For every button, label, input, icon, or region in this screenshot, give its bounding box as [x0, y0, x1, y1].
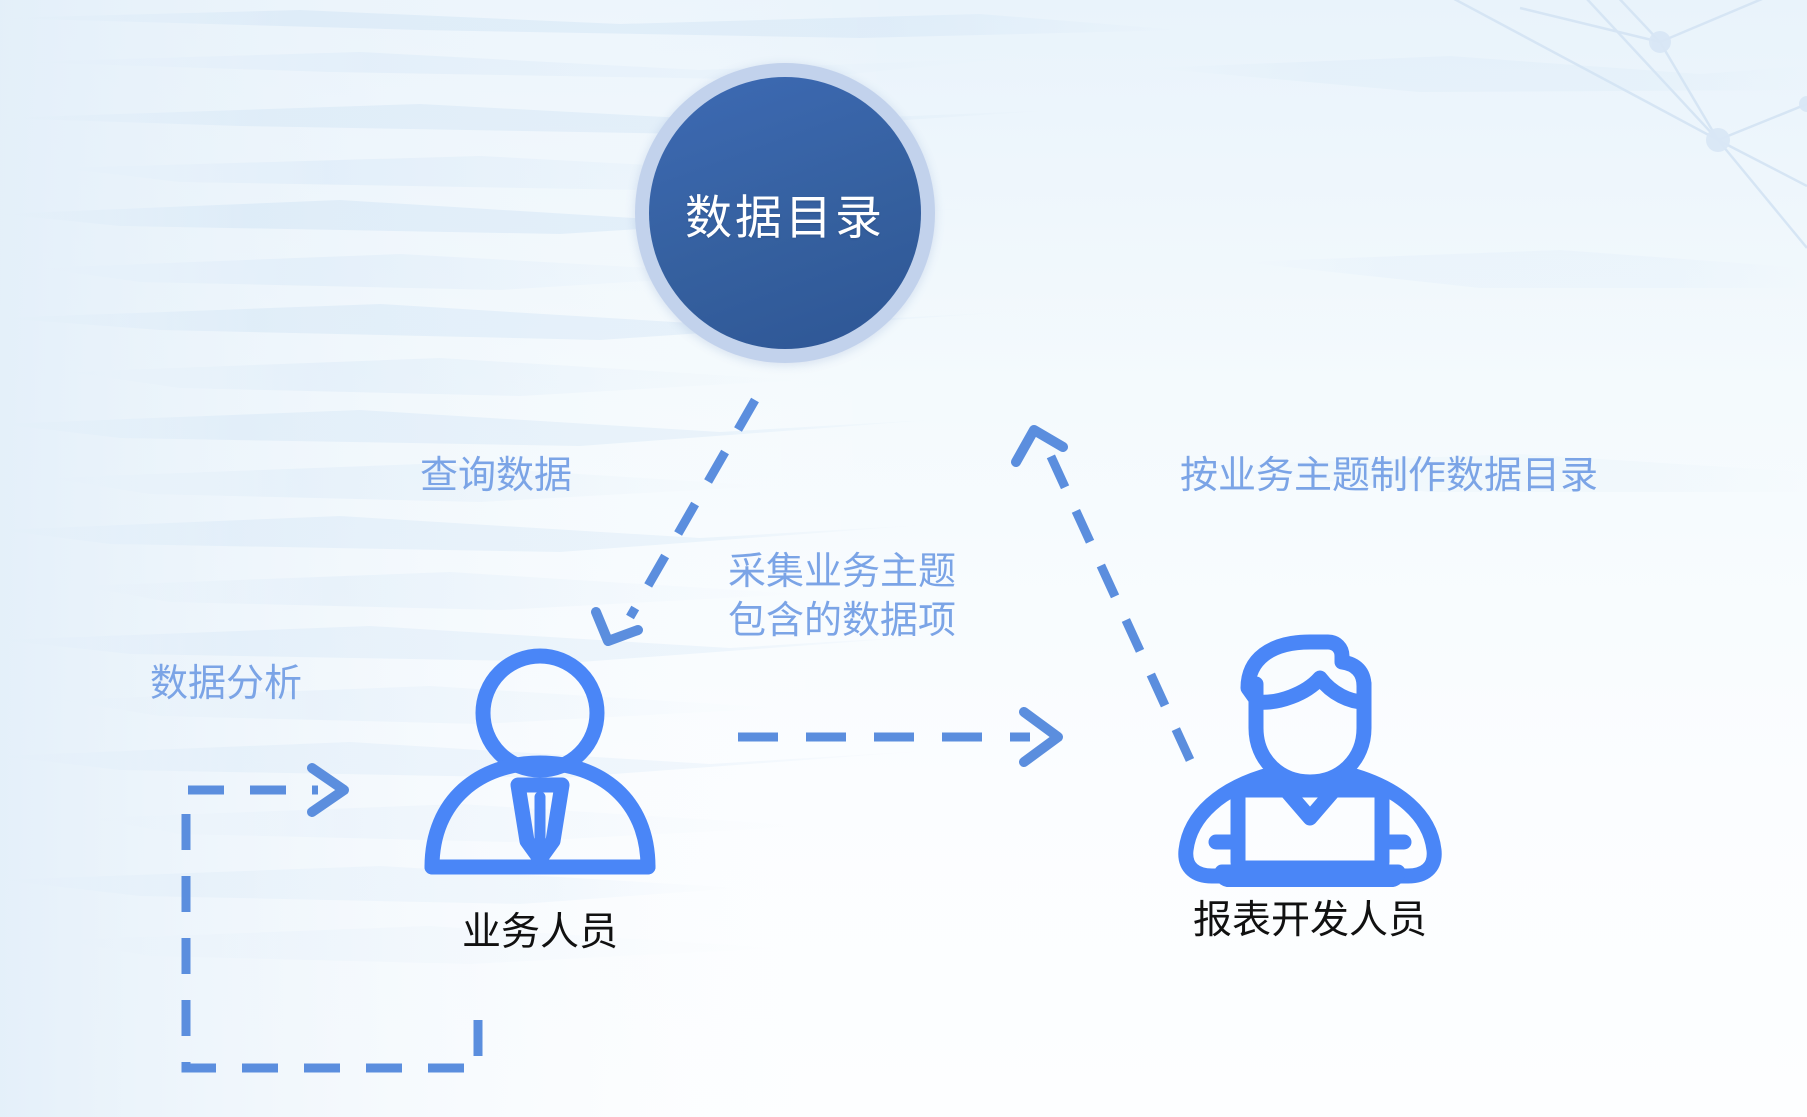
flow-label-collect-line1: 采集业务主题	[728, 548, 956, 597]
report-developer-icon	[1160, 622, 1460, 887]
diagram-canvas: 数据目录 查询数据 按业务主题制作数据目录 采集业务主题 包含的数据项 数据分析…	[0, 0, 1807, 1117]
actor-business-person-caption: 业务人员	[462, 901, 618, 957]
arrow-build-head	[1016, 430, 1063, 462]
flow-label-query: 查询数据	[420, 452, 572, 501]
flow-label-collect-line2: 包含的数据项	[728, 597, 956, 646]
actor-report-developer-caption: 报表开发人员	[1193, 889, 1427, 945]
network-decoration	[1400, 0, 1807, 248]
arrow-analysis-head	[312, 768, 344, 812]
data-catalog-node[interactable]: 数据目录	[635, 63, 935, 363]
actor-business-person[interactable]: 业务人员	[390, 645, 690, 957]
data-catalog-node-body: 数据目录	[649, 77, 921, 349]
business-person-icon	[410, 645, 670, 895]
actor-report-developer[interactable]: 报表开发人员	[1140, 622, 1480, 945]
arrow-collect-head	[1024, 712, 1058, 762]
flow-label-build: 按业务主题制作数据目录	[1180, 452, 1598, 501]
arrow-query-head	[596, 612, 638, 641]
data-catalog-label: 数据目录	[685, 179, 885, 248]
flow-label-collect: 采集业务主题 包含的数据项	[728, 548, 956, 647]
flow-label-analysis: 数据分析	[150, 660, 302, 709]
